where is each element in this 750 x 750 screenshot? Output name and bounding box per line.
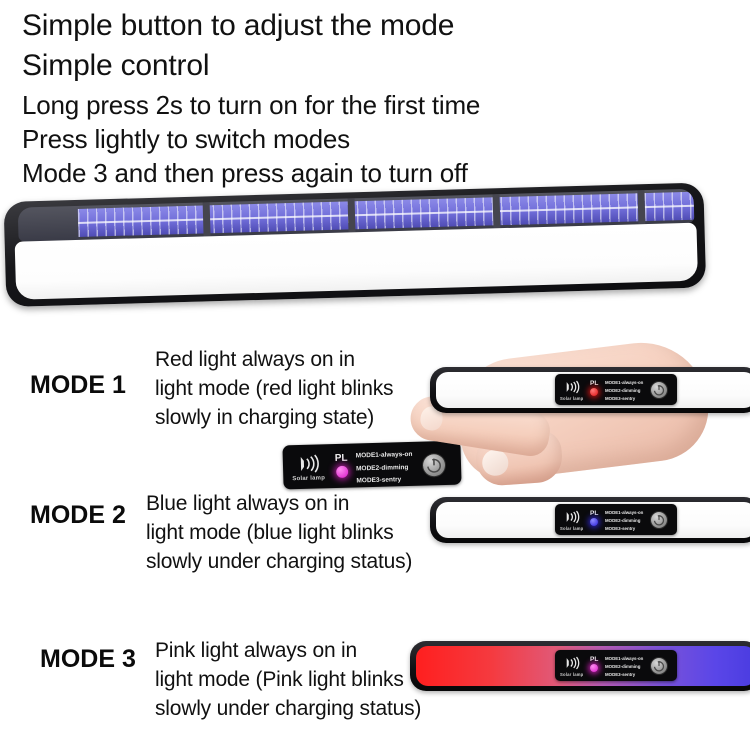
- solar-cell-divider: [493, 194, 501, 228]
- mode2-product-bar: Solar lamp PL MODE1-always-on MODE2-dimm…: [430, 497, 750, 543]
- mode1-desc-line-1: Red light always on in: [155, 345, 393, 374]
- mode3-legend: MODE3-sentry: [605, 526, 635, 531]
- mode1-legend: MODE1-always-on: [605, 380, 643, 385]
- mode1-desc-line-2: light mode (red light blinks: [155, 374, 393, 403]
- mode1-legend: MODE1-always-on: [605, 656, 643, 661]
- mode3-product-bar: Solar lamp PL MODE1-always-on MODE2-dimm…: [410, 641, 750, 691]
- mode3-legend: MODE3-sentry: [605, 672, 635, 677]
- mode-row-3: MODE 3 Pink light always on in light mod…: [0, 636, 750, 736]
- pl-label: PL: [590, 510, 598, 517]
- mode-row-2: MODE 2 Blue light always on in light mod…: [0, 487, 750, 582]
- mode2-legend: MODE2-dimming: [605, 664, 640, 669]
- page-title-line-2: Simple control: [22, 46, 582, 86]
- sound-wave-icon: [296, 453, 325, 474]
- sound-wave-icon: [563, 510, 583, 524]
- mode-description-2: Blue light always on in light mode (blue…: [146, 489, 412, 576]
- mode2-desc-line-3: slowly under charging status): [146, 547, 412, 576]
- brand-label: Solar lamp: [560, 672, 583, 677]
- control-panel[interactable]: Solar lamp PL MODE1-always-on MODE2-dimm…: [555, 504, 677, 535]
- mode-label-2: MODE 2: [30, 501, 126, 530]
- control-panel[interactable]: Solar lamp PL MODE1-always-on MODE2-dimm…: [555, 374, 677, 405]
- sound-wave-icon: [563, 656, 583, 670]
- hero-product-image: Solar lamp PL MODE1-always-on MODE2-dimm…: [0, 190, 750, 335]
- pl-label: PL: [590, 380, 598, 387]
- mode1-desc-line-3: slowly in charging state): [155, 403, 393, 432]
- mode1-legend: MODE1-always-on: [605, 510, 643, 515]
- mode3-legend: MODE3-sentry: [356, 476, 401, 484]
- solar-lamp-bar: [4, 182, 707, 307]
- mode3-legend: MODE3-sentry: [605, 396, 635, 401]
- brand-label: Solar lamp: [292, 475, 325, 482]
- instruction-line-2: Press lightly to switch modes: [22, 122, 582, 156]
- mode-row-1: MODE 1 Red light always on in light mode…: [0, 345, 750, 440]
- mode3-desc-line-3: slowly under charging status): [155, 694, 421, 723]
- mode2-legend: MODE2-dimming: [605, 388, 640, 393]
- sound-wave-icon: [563, 380, 583, 394]
- status-led-red: [590, 388, 598, 396]
- power-button[interactable]: [651, 512, 667, 528]
- mode3-desc-line-1: Pink light always on in: [155, 636, 421, 665]
- product-infographic: Simple button to adjust the mode Simple …: [0, 0, 750, 750]
- status-led-pink: [590, 664, 598, 672]
- pl-label: PL: [590, 656, 598, 663]
- instruction-line-3: Mode 3 and then press again to turn off: [22, 156, 582, 190]
- power-button[interactable]: [651, 658, 667, 674]
- mode-label-1: MODE 1: [30, 371, 126, 400]
- pl-label: PL: [335, 453, 348, 464]
- solar-cell-divider: [203, 202, 211, 236]
- mode2-desc-line-2: light mode (blue light blinks: [146, 518, 412, 547]
- brand-label: Solar lamp: [560, 396, 583, 401]
- instruction-list: Long press 2s to turn on for the first t…: [22, 88, 582, 190]
- mode2-legend: MODE2-dimming: [605, 518, 640, 523]
- status-led: [336, 466, 348, 478]
- control-panel[interactable]: Solar lamp PL MODE1-always-on MODE2-dimm…: [555, 650, 677, 681]
- brand-label: Solar lamp: [560, 526, 583, 531]
- mode1-product-bar: Solar lamp PL MODE1-always-on MODE2-dimm…: [430, 367, 750, 413]
- mode-description-3: Pink light always on in light mode (Pink…: [155, 636, 421, 723]
- mode3-desc-line-2: light mode (Pink light blinks: [155, 665, 421, 694]
- solar-cell-divider: [348, 198, 356, 232]
- mode-label-3: MODE 3: [40, 645, 136, 674]
- power-button[interactable]: [651, 382, 667, 398]
- solar-cell-divider: [637, 190, 645, 224]
- status-led-blue: [590, 518, 598, 526]
- mode-description-1: Red light always on in light mode (red l…: [155, 345, 393, 432]
- mode2-desc-line-1: Blue light always on in: [146, 489, 412, 518]
- header-text-block: Simple button to adjust the mode Simple …: [22, 6, 582, 190]
- instruction-line-1: Long press 2s to turn on for the first t…: [22, 88, 582, 122]
- page-title-line-1: Simple button to adjust the mode: [22, 6, 582, 46]
- fingernail: [481, 449, 509, 477]
